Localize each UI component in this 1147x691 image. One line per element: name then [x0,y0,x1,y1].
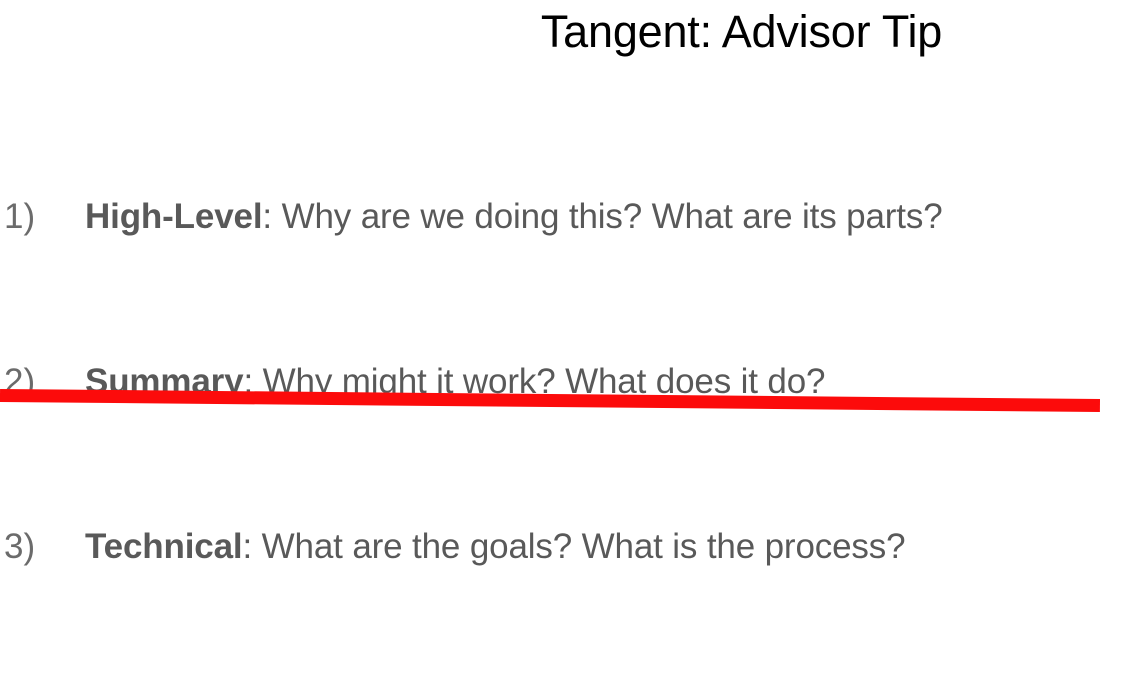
list-item-number: 3) [4,526,85,568]
list-item: 3) Technical: What are the goals? What i… [0,526,1147,691]
list-item: 2) Summary: Why might it work? What does… [0,361,1147,526]
slide-canvas: Tangent: Advisor Tip 1) High-Level: Why … [0,0,1147,614]
list-item-body: : Why might it work? What does it do? [243,362,825,401]
list-item: 1) High-Level: Why are we doing this? Wh… [0,196,1147,361]
list-item-body: : What are the goals? What is the proces… [243,527,906,566]
list-item-text: Technical: What are the goals? What is t… [85,526,905,568]
page-title: Tangent: Advisor Tip [0,8,1147,55]
list-item-body: : Why are we doing this? What are its pa… [262,197,942,236]
bullet-list: 1) High-Level: Why are we doing this? Wh… [0,196,1147,691]
list-item-lead-term: Technical [85,527,243,566]
list-item-lead-term: Summary [85,362,243,401]
list-item-text: High-Level: Why are we doing this? What … [85,196,943,238]
list-item-number: 2) [4,361,85,403]
list-item-lead-term: High-Level [85,197,262,236]
list-item-text: Summary: Why might it work? What does it… [85,361,825,403]
list-item-number: 1) [4,196,85,238]
